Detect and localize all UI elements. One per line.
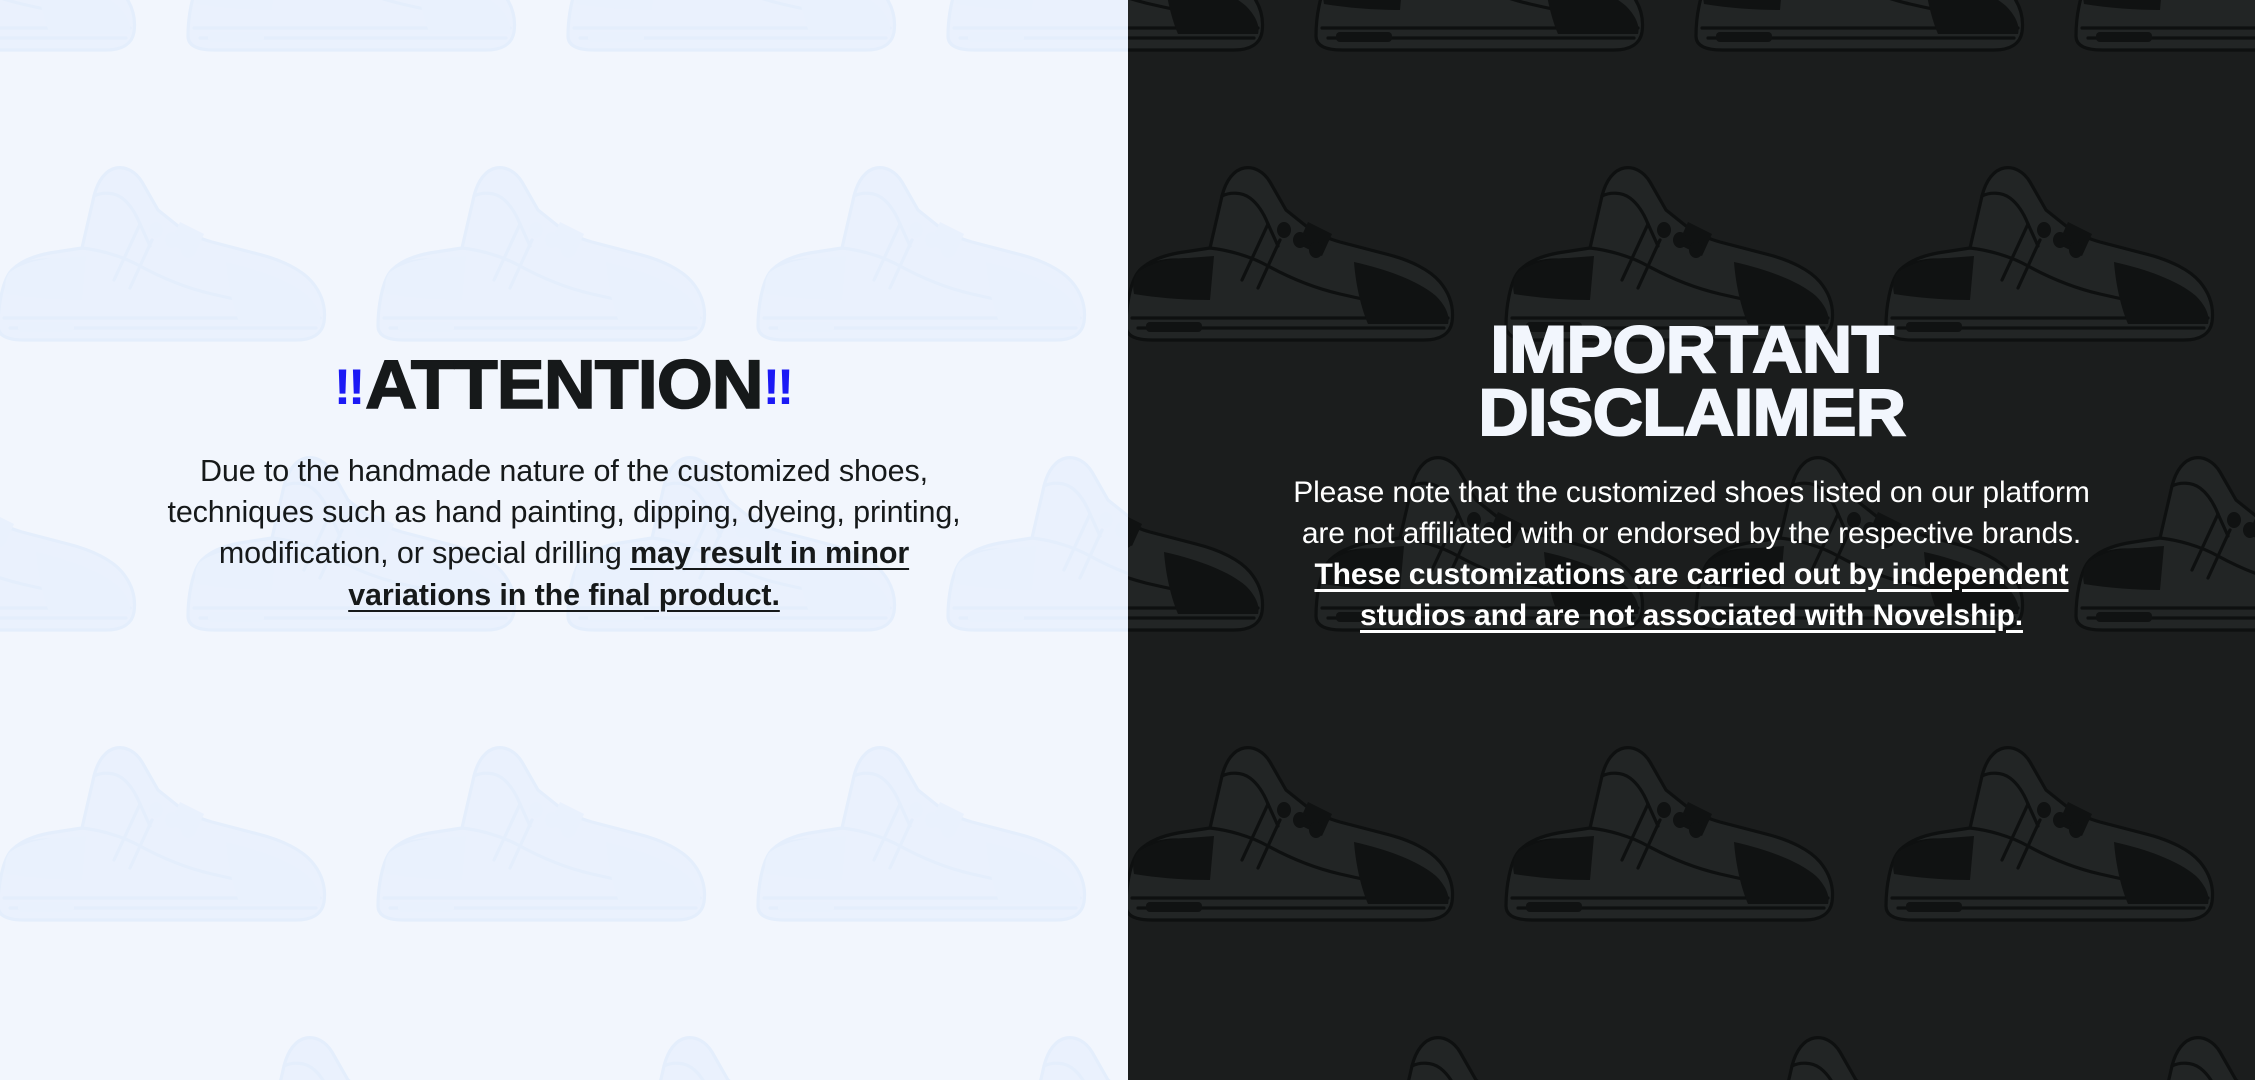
sneaker-icon xyxy=(2068,1000,2255,1080)
attention-headline-text: ATTENTION xyxy=(365,346,763,423)
sneaker-icon xyxy=(180,1000,540,1080)
split-banner: ‼ATTENTION‼ Due to the handmade nature o… xyxy=(0,0,2255,1080)
sneaker-icon xyxy=(1308,1000,1668,1080)
sneaker-icon xyxy=(180,0,540,90)
sneaker-icon xyxy=(1308,0,1668,90)
sneaker-icon xyxy=(0,1000,160,1080)
sneaker-icon xyxy=(560,0,920,90)
sneaker-icon xyxy=(1688,0,2048,90)
sneaker-icon xyxy=(0,420,160,670)
sneaker-icon xyxy=(1878,710,2238,960)
pattern-row xyxy=(1128,1000,2255,1080)
attention-headline: ‼ATTENTION‼ xyxy=(132,352,995,418)
sneaker-icon xyxy=(1128,0,1288,90)
sneaker-icon xyxy=(940,1000,1128,1080)
sneaker-icon xyxy=(750,130,1110,380)
disclaimer-content: IMPORTANT DISCLAIMER Please note that th… xyxy=(1277,318,2107,637)
double-exclamation-icon-right: ‼ xyxy=(763,359,794,415)
pattern-row xyxy=(0,710,1128,1000)
pattern-row xyxy=(1128,0,2255,130)
double-exclamation-icon-left: ‼ xyxy=(334,359,365,415)
disclaimer-headline-line-2: DISCLAIMER xyxy=(1256,381,2128,444)
sneaker-icon xyxy=(0,130,350,380)
sneaker-icon xyxy=(1128,710,1478,960)
sneaker-icon xyxy=(1498,710,1858,960)
sneaker-icon xyxy=(940,0,1128,90)
pattern-row xyxy=(0,0,1128,130)
attention-body: Due to the handmade nature of the custom… xyxy=(149,451,979,617)
disclaimer-panel: IMPORTANT DISCLAIMER Please note that th… xyxy=(1128,0,2255,1080)
disclaimer-body-emphasis: These customizations are carried out by … xyxy=(1314,558,2068,632)
sneaker-icon xyxy=(0,710,350,960)
disclaimer-body: Please note that the customized shoes li… xyxy=(1277,473,2107,636)
disclaimer-body-lead: Please note that the customized shoes li… xyxy=(1293,476,2090,550)
pattern-row xyxy=(0,1000,1128,1080)
sneaker-icon xyxy=(2068,0,2255,90)
sneaker-icon xyxy=(1128,1000,1288,1080)
sneaker-icon xyxy=(560,1000,920,1080)
pattern-row xyxy=(1128,710,2255,1000)
sneaker-icon xyxy=(1688,1000,2048,1080)
disclaimer-headline-line-1: IMPORTANT xyxy=(1256,318,2128,381)
attention-panel: ‼ATTENTION‼ Due to the handmade nature o… xyxy=(0,0,1128,1080)
sneaker-icon xyxy=(0,0,160,90)
sneaker-icon xyxy=(370,710,730,960)
attention-content: ‼ATTENTION‼ Due to the handmade nature o… xyxy=(149,352,979,616)
sneaker-icon xyxy=(370,130,730,380)
disclaimer-headline: IMPORTANT DISCLAIMER xyxy=(1256,318,2128,443)
sneaker-icon xyxy=(1128,420,1288,670)
sneaker-icon xyxy=(750,710,1110,960)
